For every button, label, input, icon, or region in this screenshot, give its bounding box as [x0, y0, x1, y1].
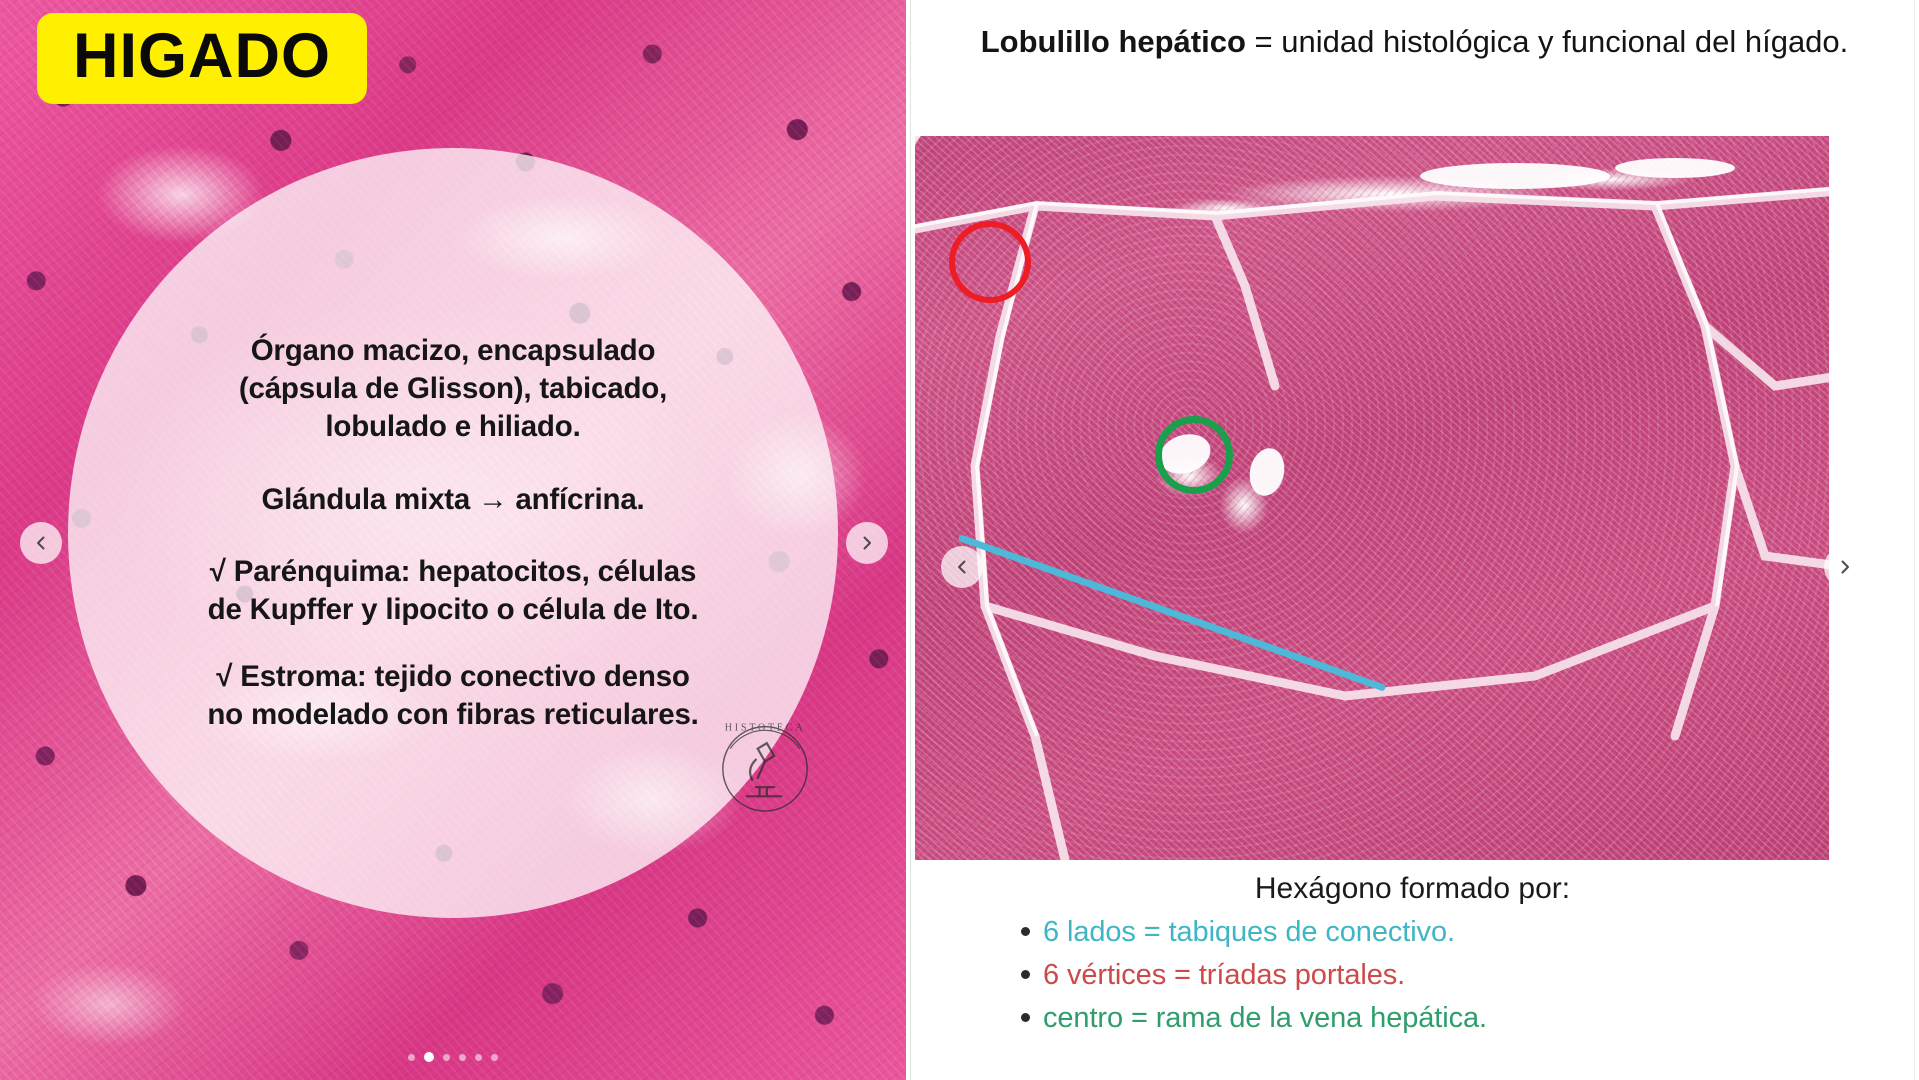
bullet-label-lados: 6 lados = tabiques de conectivo.: [1043, 916, 1455, 949]
next-slide-button-right[interactable]: [1824, 546, 1866, 588]
list-item: 6 lados = tabiques de conectivo.: [947, 916, 1878, 949]
green-annotation-circle-central-vein: [1155, 416, 1233, 494]
bullet-point-icon: [1021, 927, 1030, 936]
bullet-label-vertices: 6 vértices = tríadas portales.: [1043, 959, 1405, 992]
caption-line-2: (cápsula de Glisson), tabicado,: [140, 370, 766, 408]
caption-circle: Órgano macizo, encapsulado (cápsula de G…: [68, 148, 838, 918]
pagination-dot[interactable]: [443, 1054, 450, 1061]
carousel-screen: HIGADO Órgano macizo, encapsulado (cápsu…: [0, 0, 1919, 1080]
card-heading-bold: Lobulillo hepático: [981, 24, 1246, 59]
caption-line-8: no modelado con fibras reticulares.: [140, 696, 766, 734]
pagination-dot-active[interactable]: [424, 1052, 434, 1062]
caption-line-6: de Kupffer y lipocito o célula de Ito.: [140, 591, 766, 629]
caption-line-4: Glándula mixta → anfícrina.: [140, 481, 766, 519]
bottom-title: Hexágono formado por:: [947, 872, 1878, 906]
pagination-dot[interactable]: [475, 1054, 482, 1061]
bullet-point-icon: [1021, 970, 1030, 979]
chevron-right-icon: [1837, 559, 1853, 575]
carousel-pagination-dots[interactable]: [0, 1052, 906, 1062]
next-slide-button-left[interactable]: [846, 522, 888, 564]
chevron-left-icon: [954, 559, 970, 575]
pagination-dot[interactable]: [459, 1054, 466, 1061]
pagination-dot[interactable]: [491, 1054, 498, 1061]
prev-slide-button-left[interactable]: [20, 522, 62, 564]
caption-line-5: √ Parénquima: hepatocitos, células: [140, 553, 766, 591]
connective-septa-overlay: [915, 136, 1829, 860]
chevron-right-icon: [859, 535, 875, 551]
caption-line-1: Órgano macizo, encapsulado: [140, 332, 766, 370]
card-heading: Lobulillo hepático = unidad histológica …: [951, 22, 1878, 63]
card-heading-rest: = unidad histológica y funcional del híg…: [1246, 24, 1848, 59]
liver-lobule-histology-image: [915, 136, 1829, 860]
slide-left[interactable]: HIGADO Órgano macizo, encapsulado (cápsu…: [0, 0, 906, 1080]
list-item: centro = rama de la vena hepática.: [947, 1002, 1878, 1035]
bottom-text-block: Hexágono formado por: 6 lados = tabiques…: [947, 872, 1878, 1035]
red-annotation-circle-portal-triad: [949, 221, 1031, 303]
bullet-point-icon: [1021, 1013, 1030, 1022]
chevron-left-icon: [33, 535, 49, 551]
slide-right[interactable]: Lobulillo hepático = unidad histológica …: [906, 0, 1919, 1080]
bullet-label-centro: centro = rama de la vena hepática.: [1043, 1002, 1487, 1035]
title-badge-label: HIGADO: [73, 25, 331, 88]
prev-slide-button-right[interactable]: [941, 546, 983, 588]
slide-card: Lobulillo hepático = unidad histológica …: [910, 0, 1915, 1080]
list-item: 6 vértices = tríadas portales.: [947, 959, 1878, 992]
title-badge: HIGADO: [37, 13, 367, 104]
caption-line-3: lobulado e hiliado.: [140, 408, 766, 446]
caption-line-7: √ Estroma: tejido conectivo denso: [140, 658, 766, 696]
pagination-dot[interactable]: [408, 1054, 415, 1061]
